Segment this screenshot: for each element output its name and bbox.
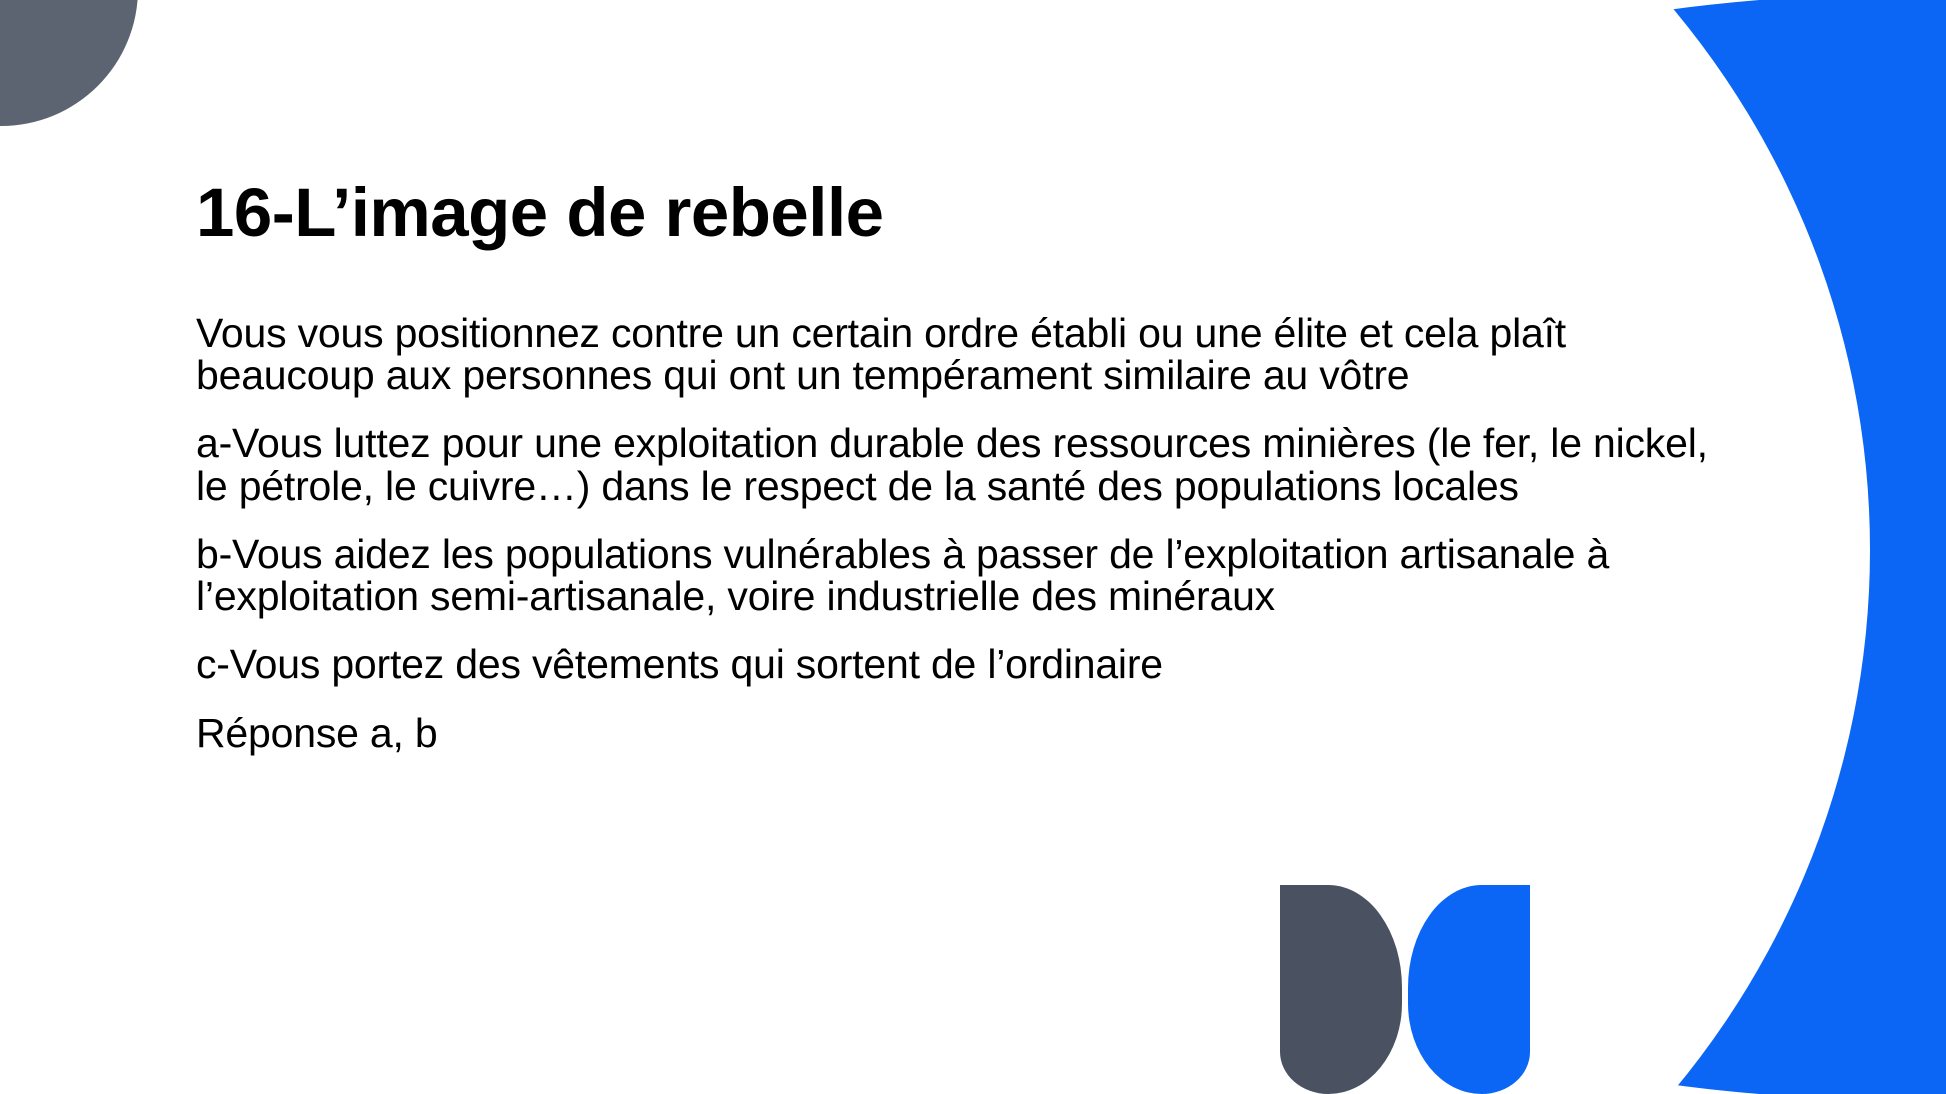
slide-title: 16-L’image de rebelle bbox=[196, 178, 1696, 247]
body-paragraph-intro: Vous vous positionnez contre un certain … bbox=[196, 312, 1686, 396]
body-paragraph-option-c: c-Vous portez des vêtements qui sortent … bbox=[196, 643, 1396, 685]
slide-body: Vous vous positionnez contre un certain … bbox=[196, 312, 1736, 754]
slide-content: 16-L’image de rebelle Vous vous position… bbox=[196, 0, 1756, 1094]
body-paragraph-option-b: b-Vous aidez les populations vulnérables… bbox=[196, 533, 1676, 617]
body-paragraph-answer: Réponse a, b bbox=[196, 712, 896, 754]
slide: 16-L’image de rebelle Vous vous position… bbox=[0, 0, 1946, 1094]
body-paragraph-option-a: a-Vous luttez pour une exploitation dura… bbox=[196, 422, 1736, 506]
